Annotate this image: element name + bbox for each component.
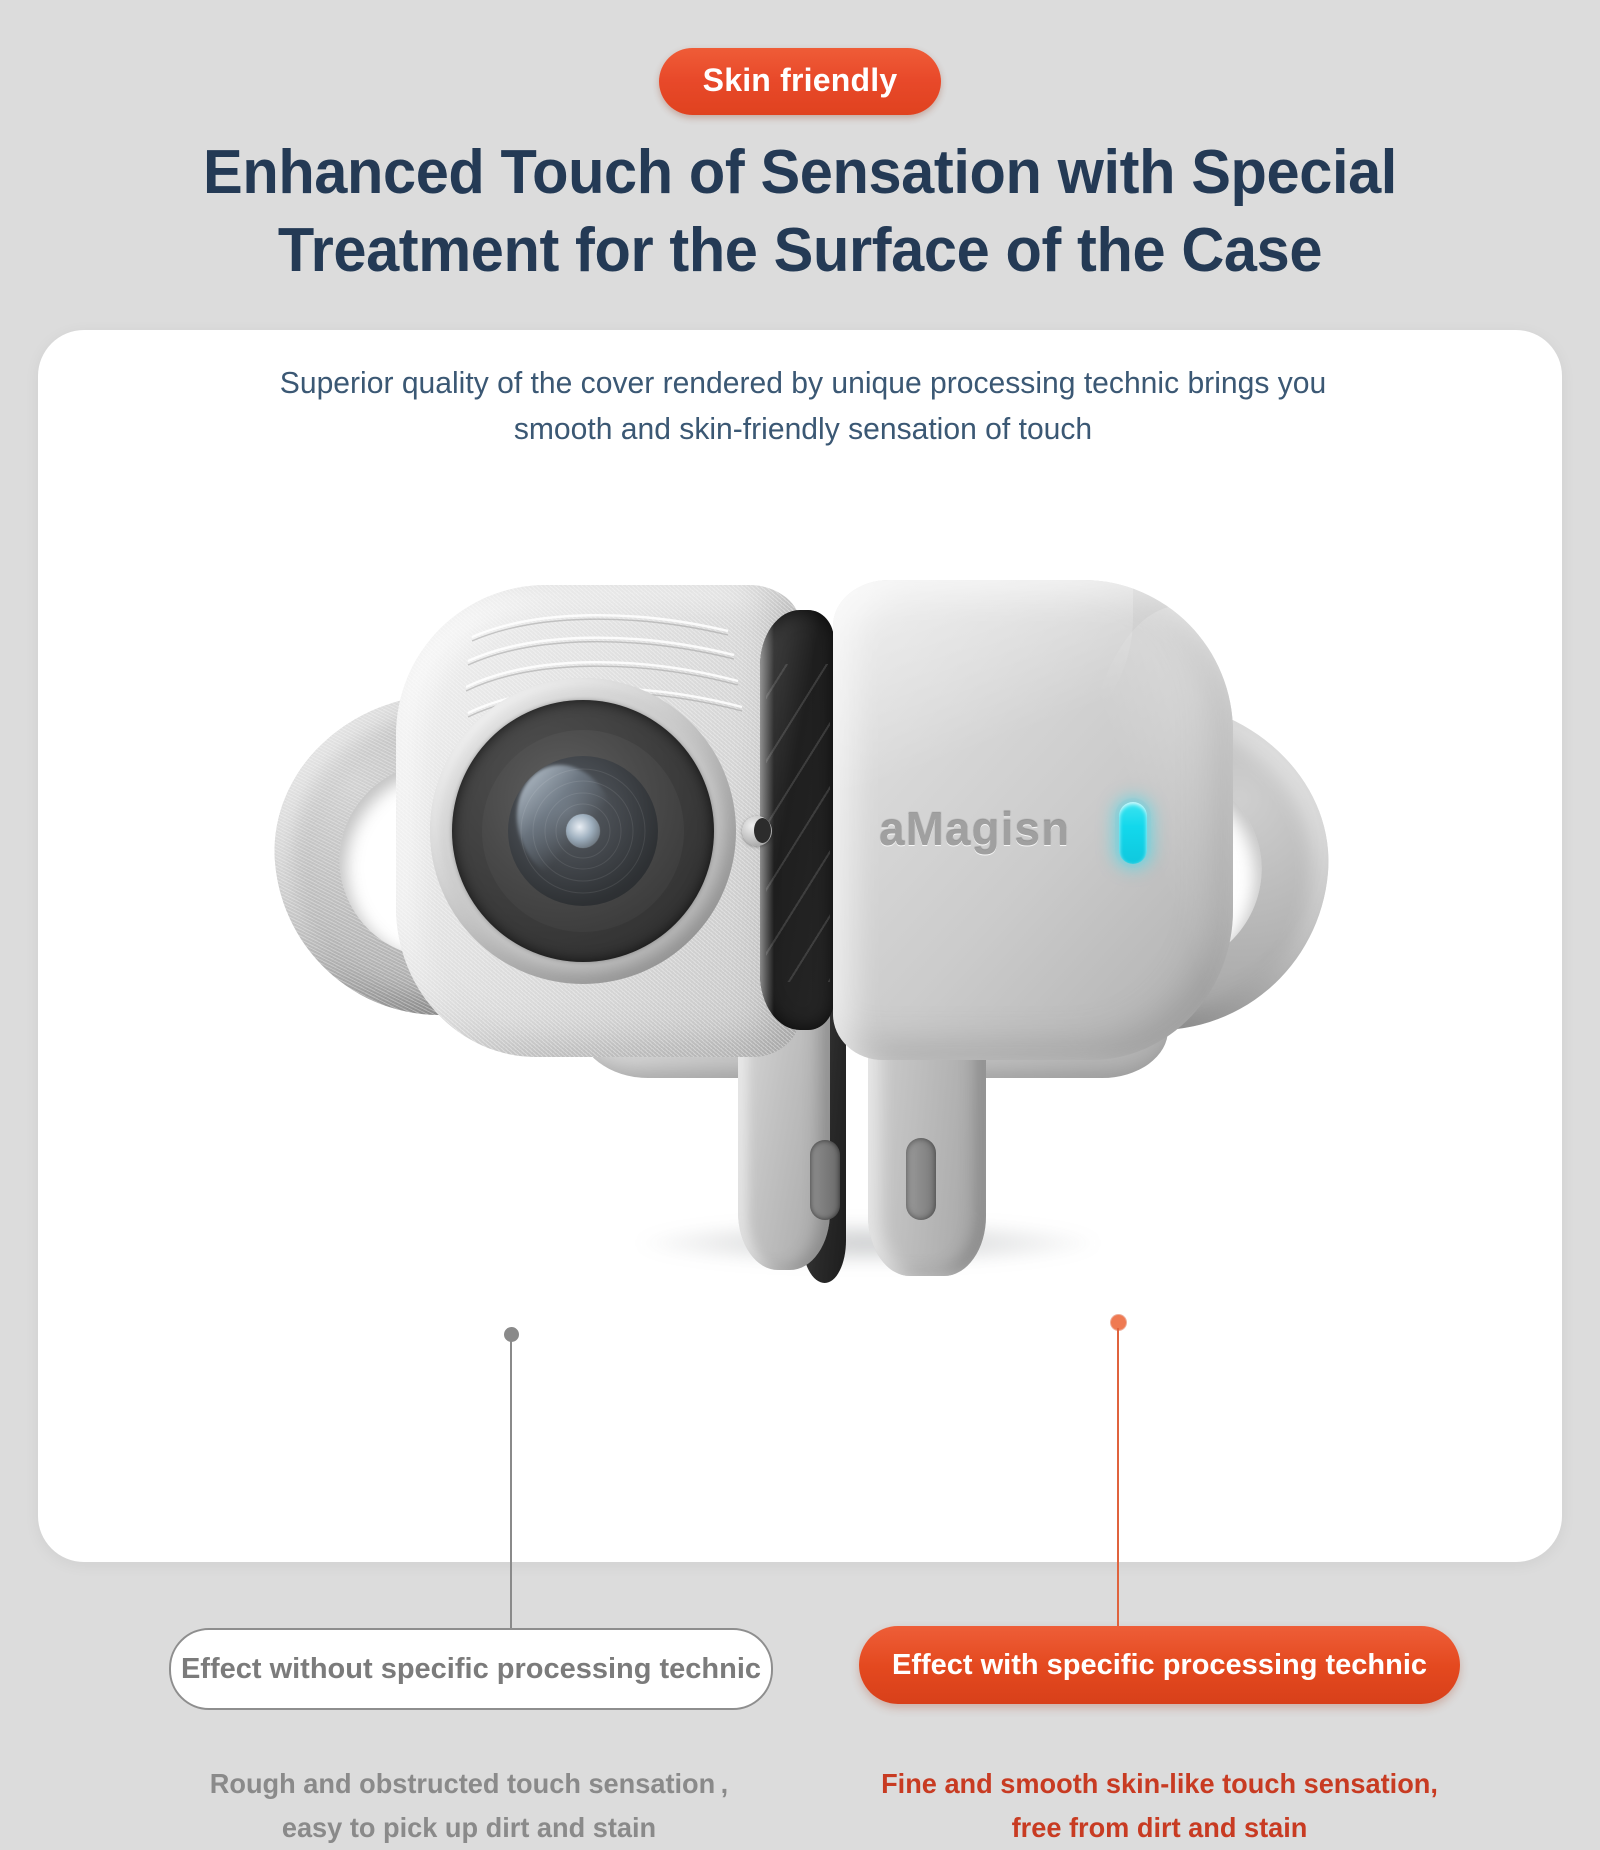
right-caption-line-1: Fine and smooth skin-like touch sensatio… bbox=[868, 1762, 1451, 1806]
right-effect-label: Effect with specific processing technic bbox=[859, 1626, 1460, 1704]
page-title-line-2: Treatment for the Surface of the Case bbox=[109, 212, 1491, 290]
brand-logo: aMagisn bbox=[879, 802, 1070, 856]
right-case-body: aMagisn bbox=[833, 580, 1233, 1060]
left-effect-caption: Rough and obstructed touch sensation , e… bbox=[169, 1762, 769, 1850]
left-callout-leader-line bbox=[510, 1340, 512, 1628]
left-leg-screw-hole bbox=[810, 1140, 840, 1220]
left-effect-label: Effect without specific processing techn… bbox=[169, 1628, 773, 1710]
page-title: Enhanced Touch of Sensation with Special… bbox=[80, 134, 1520, 290]
camera-lens-ring bbox=[452, 700, 714, 962]
subtitle-line-1: Superior quality of the cover rendered b… bbox=[245, 360, 1361, 406]
subtitle-line-2: smooth and skin-friendly sensation of to… bbox=[245, 406, 1361, 452]
subtitle: Superior quality of the cover rendered b… bbox=[228, 360, 1378, 452]
right-callout-leader-line bbox=[1117, 1328, 1119, 1626]
page-title-line-1: Enhanced Touch of Sensation with Special bbox=[109, 134, 1491, 212]
right-leg-screw-hole bbox=[906, 1138, 936, 1220]
lens-concentric-rings bbox=[508, 756, 658, 906]
seam-internal-ribs bbox=[766, 664, 830, 982]
case-side-button bbox=[742, 816, 772, 846]
skin-friendly-badge: Skin friendly bbox=[659, 48, 942, 115]
camera-lens-bezel bbox=[430, 678, 736, 984]
badge-container: Skin friendly bbox=[0, 48, 1600, 115]
page-root: Skin friendly Enhanced Touch of Sensatio… bbox=[0, 0, 1600, 1600]
left-caption-line-2: easy to pick up dirt and stain bbox=[178, 1806, 760, 1850]
product-illustration: aMagisn bbox=[38, 450, 1562, 1280]
content-card: Superior quality of the cover rendered b… bbox=[38, 330, 1562, 1562]
led-indicator bbox=[1119, 802, 1147, 864]
camera-lens-glass bbox=[508, 756, 658, 906]
right-effect-caption: Fine and smooth skin-like touch sensatio… bbox=[859, 1762, 1460, 1850]
right-caption-line-2: free from dirt and stain bbox=[868, 1806, 1451, 1850]
case-split-seam-interior bbox=[760, 610, 834, 1030]
left-caption-line-1: Rough and obstructed touch sensation , bbox=[178, 1762, 760, 1806]
camera-lens-barrel bbox=[482, 730, 684, 932]
